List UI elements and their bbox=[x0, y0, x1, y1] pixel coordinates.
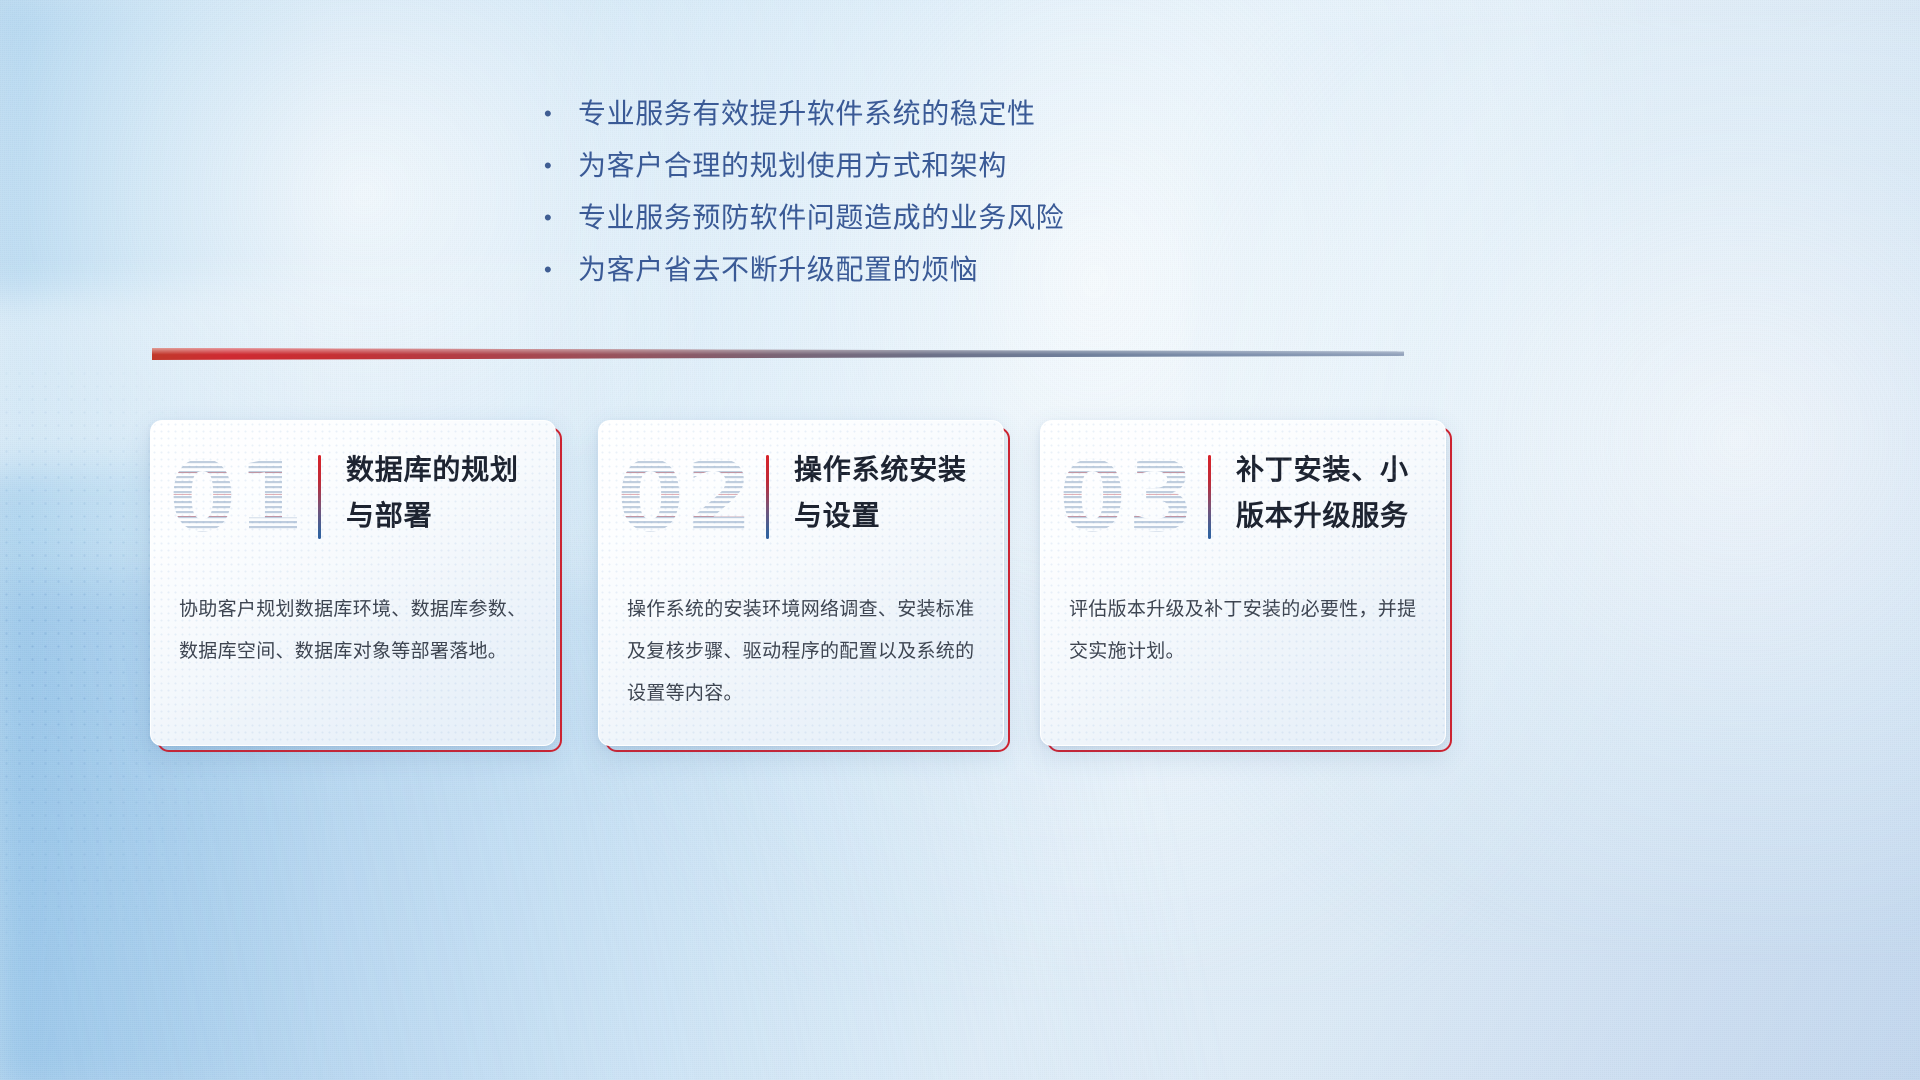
card-surface-03: 03 03 补丁安装、小 版本升级服务 评估版本升级及补丁安装的必要性，并提交实… bbox=[1040, 420, 1446, 746]
card-title-rule-02 bbox=[766, 455, 769, 539]
service-card-row: 01 01 数据库的规划 与部署 协助客户规划数据库环境、数据库参数、数据库空间… bbox=[150, 420, 1452, 750]
card-surface-01: 01 01 数据库的规划 与部署 协助客户规划数据库环境、数据库参数、数据库空间… bbox=[150, 420, 556, 746]
card-header-01: 01 01 数据库的规划 与部署 bbox=[151, 421, 555, 581]
card-title-rule-03 bbox=[1208, 455, 1211, 539]
bullet-text-3: 专业服务预防软件问题造成的业务风险 bbox=[578, 196, 1064, 240]
bullet-marker-icon: • bbox=[540, 92, 578, 136]
bullet-marker-icon: • bbox=[540, 196, 578, 240]
benefits-bullet-list: • 专业服务有效提升软件系统的稳定性 • 为客户合理的规划使用方式和架构 • 专… bbox=[540, 92, 1300, 300]
card-title-rule-01 bbox=[318, 455, 321, 539]
card-title-line2-01: 与部署 bbox=[346, 493, 544, 539]
card-title-line2-03: 版本升级服务 bbox=[1236, 493, 1434, 539]
card-header-02: 02 02 操作系统安装 与设置 bbox=[599, 421, 1003, 581]
bullet-item-2: • 为客户合理的规划使用方式和架构 bbox=[540, 144, 1300, 196]
card-title-line1-02: 操作系统安装 bbox=[794, 447, 992, 493]
service-card-01[interactable]: 01 01 数据库的规划 与部署 协助客户规划数据库环境、数据库参数、数据库空间… bbox=[150, 420, 556, 746]
card-description-03: 评估版本升级及补丁安装的必要性，并提交实施计划。 bbox=[1069, 589, 1421, 673]
card-surface-02: 02 02 操作系统安装 与设置 操作系统的安装环境网络调查、安装标准及复核步骤… bbox=[598, 420, 1004, 746]
bullet-item-4: • 为客户省去不断升级配置的烦恼 bbox=[540, 248, 1300, 300]
bullet-item-3: • 专业服务预防软件问题造成的业务风险 bbox=[540, 196, 1300, 248]
card-title-line1-03: 补丁安装、小 bbox=[1236, 447, 1434, 493]
card-title-01: 数据库的规划 与部署 bbox=[346, 447, 544, 539]
bullet-marker-icon: • bbox=[540, 144, 578, 188]
card-number-watermark-tint-03: 03 bbox=[1059, 441, 1187, 553]
service-card-02[interactable]: 02 02 操作系统安装 与设置 操作系统的安装环境网络调查、安装标准及复核步骤… bbox=[598, 420, 1004, 746]
section-divider bbox=[152, 348, 1404, 360]
bullet-text-4: 为客户省去不断升级配置的烦恼 bbox=[578, 248, 978, 292]
card-title-02: 操作系统安装 与设置 bbox=[794, 447, 992, 539]
card-title-line2-02: 与设置 bbox=[794, 493, 992, 539]
bullet-marker-icon: • bbox=[540, 248, 578, 292]
card-header-03: 03 03 补丁安装、小 版本升级服务 bbox=[1041, 421, 1445, 581]
bullet-item-1: • 专业服务有效提升软件系统的稳定性 bbox=[540, 92, 1300, 144]
bullet-text-1: 专业服务有效提升软件系统的稳定性 bbox=[578, 92, 1036, 136]
card-number-watermark-tint-02: 02 bbox=[617, 441, 745, 553]
bullet-text-2: 为客户合理的规划使用方式和架构 bbox=[578, 144, 1007, 188]
service-card-03[interactable]: 03 03 补丁安装、小 版本升级服务 评估版本升级及补丁安装的必要性，并提交实… bbox=[1040, 420, 1446, 746]
card-description-01: 协助客户规划数据库环境、数据库参数、数据库空间、数据库对象等部署落地。 bbox=[179, 589, 531, 673]
card-description-02: 操作系统的安装环境网络调查、安装标准及复核步骤、驱动程序的配置以及系统的设置等内… bbox=[627, 589, 979, 715]
card-number-watermark-tint-01: 01 bbox=[169, 441, 297, 553]
card-title-03: 补丁安装、小 版本升级服务 bbox=[1236, 447, 1434, 539]
card-title-line1-01: 数据库的规划 bbox=[346, 447, 544, 493]
